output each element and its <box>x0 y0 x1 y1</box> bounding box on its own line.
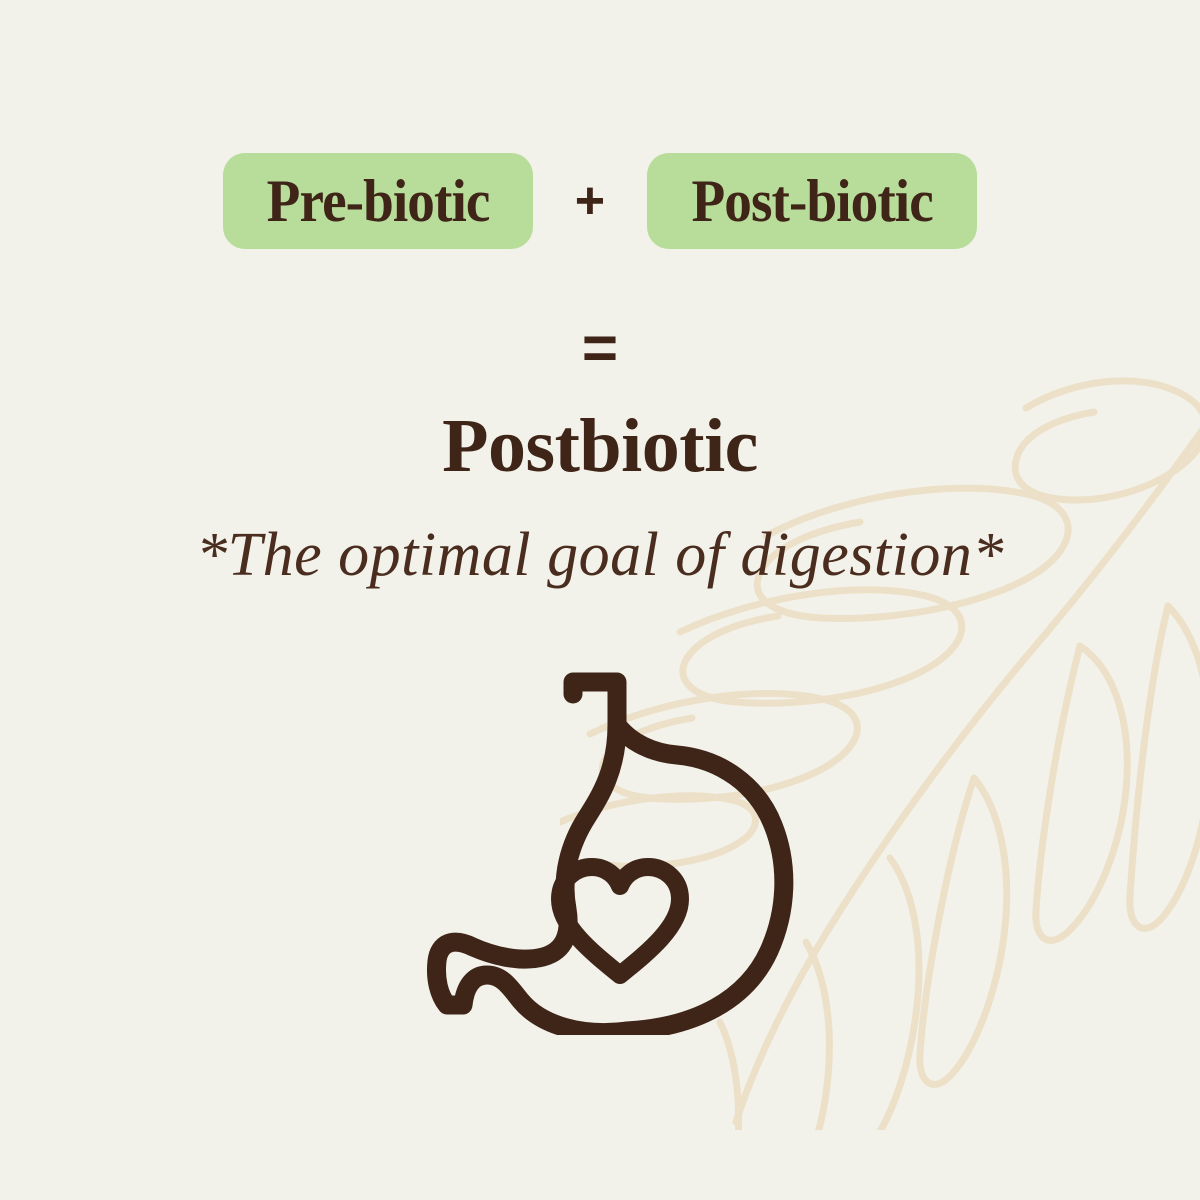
postbiotic-pill-label: Post-biotic <box>691 171 932 231</box>
equals-operator: = <box>0 318 1200 380</box>
prebiotic-label: Pre-biotic <box>266 171 489 231</box>
stomach-with-heart-icon <box>415 665 835 1035</box>
equation-row: Pre-biotic + Post-biotic <box>0 153 1200 249</box>
page-title: Postbiotic <box>0 408 1200 484</box>
tagline: *The optimal goal of digestion* <box>0 524 1200 586</box>
plus-operator: + <box>533 175 647 227</box>
postbiotic-pill[interactable]: Post-biotic <box>647 153 977 249</box>
prebiotic-pill[interactable]: Pre-biotic <box>223 153 533 249</box>
heart-icon <box>560 867 680 975</box>
infographic-canvas: Pre-biotic + Post-biotic = Postbiotic *T… <box>0 0 1200 1200</box>
